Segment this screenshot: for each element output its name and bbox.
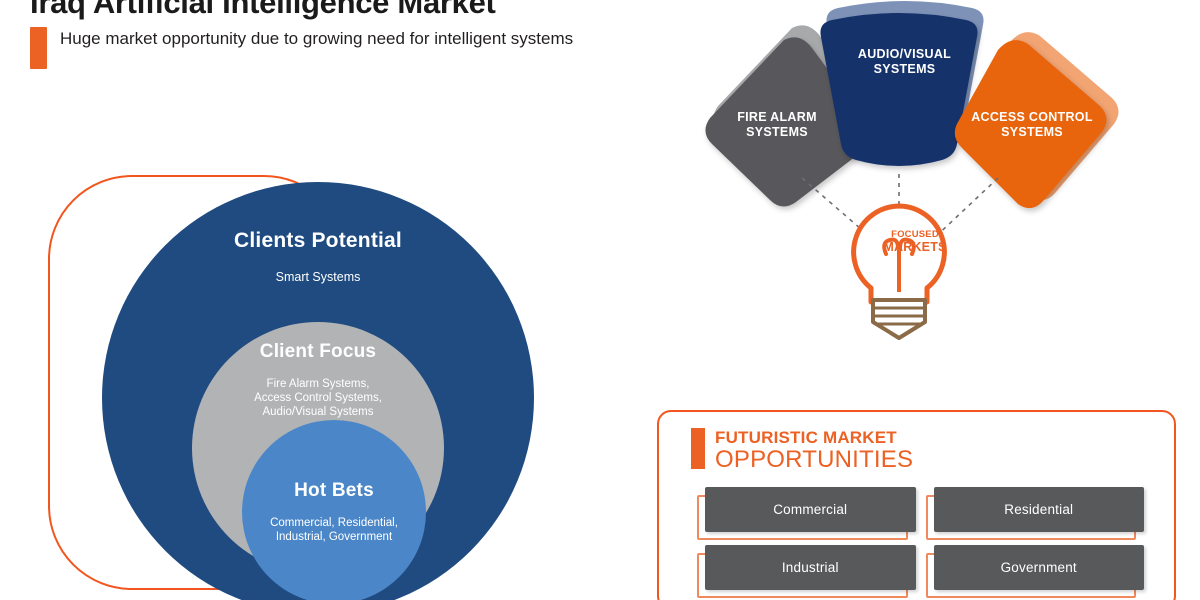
card-government[interactable]: Government [934, 545, 1145, 590]
opportunity-card-grid: Commercial Residential Industrial Govern… [705, 487, 1144, 590]
circle-inner-detail: Commercial, Residential,Industrial, Gove… [270, 516, 398, 544]
card-commercial[interactable]: Commercial [705, 487, 916, 532]
lightbulb-icon [854, 206, 945, 338]
card-residential[interactable]: Residential [934, 487, 1145, 532]
shape-label-access-control: ACCESS CONTROL SYSTEMS [952, 110, 1112, 140]
shape-label-fire-alarm: FIRE ALARM SYSTEMS [712, 110, 842, 140]
panel-title-group: FUTURISTIC MARKET OPPORTUNITIES [715, 428, 913, 473]
card-slot: Commercial [705, 487, 916, 532]
panel-title-line1: FUTURISTIC MARKET [715, 428, 913, 447]
subtitle-text: Huge market opportunity due to growing n… [60, 27, 573, 50]
panel-accent-bar [691, 428, 705, 469]
circle-inner-label: Hot Bets [294, 480, 374, 502]
circle-hot-bets[interactable]: Hot Bets Commercial, Residential,Industr… [242, 420, 426, 600]
circle-middle-label: Client Focus [260, 341, 376, 363]
card-slot: Industrial [705, 545, 916, 590]
panel-title-line2: OPPORTUNITIES [715, 447, 913, 473]
focused-markets-diagram: FIRE ALARM SYSTEMS AUDIO/VISUAL SYSTEMS … [680, 0, 1150, 372]
card-slot: Residential [934, 487, 1145, 532]
header: Iraq Artificial Intelligence Market Huge… [30, 0, 650, 69]
card-slot: Government [934, 545, 1145, 590]
bulb-label: FOCUSED MARKETS [865, 228, 965, 254]
page-title: Iraq Artificial Intelligence Market [30, 0, 650, 20]
circle-outer-detail: Smart Systems [276, 270, 361, 284]
accent-bar [30, 27, 47, 69]
circle-middle-detail: Fire Alarm Systems,Access Control System… [254, 377, 382, 419]
panel-header: FUTURISTIC MARKET OPPORTUNITIES [691, 428, 1174, 473]
futuristic-opportunities-panel: FUTURISTIC MARKET OPPORTUNITIES Commerci… [657, 410, 1176, 600]
concentric-circles-diagram: Clients Potential Smart Systems Client F… [40, 165, 560, 600]
card-industrial[interactable]: Industrial [705, 545, 916, 590]
subtitle-row: Huge market opportunity due to growing n… [30, 27, 650, 69]
infographic-canvas: Iraq Artificial Intelligence Market Huge… [0, 0, 1200, 600]
shape-label-audio-visual: AUDIO/VISUAL SYSTEMS [832, 47, 977, 77]
bulb-label-line2: MARKETS [865, 241, 965, 254]
circle-outer-label: Clients Potential [234, 229, 402, 253]
